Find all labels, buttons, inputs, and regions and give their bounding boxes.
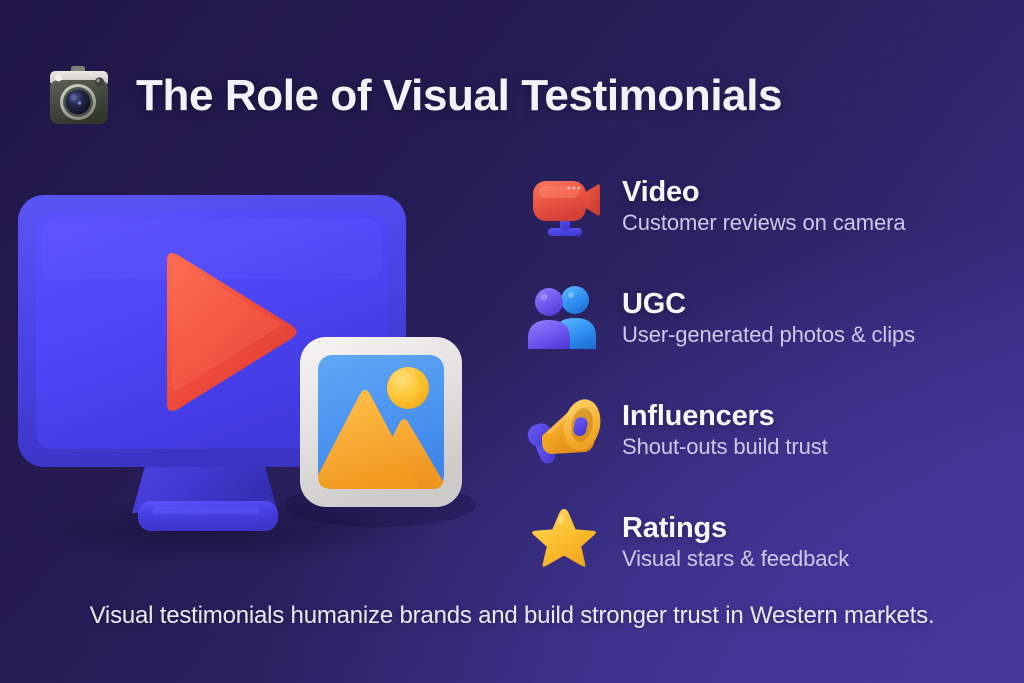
feature-text: Ratings Visual stars & feedback [622,512,849,573]
feature-item-ugc[interactable]: UGC User-generated photos & clips [524,272,994,364]
video-camera-icon [524,166,604,246]
feature-subtitle: Visual stars & feedback [622,546,849,572]
title-row: The Role of Visual Testimonials [44,61,782,131]
feature-title: UGC [622,288,915,320]
feature-subtitle: Customer reviews on camera [622,210,906,236]
megaphone-icon [524,390,604,470]
photo-sun [387,367,429,409]
feature-title: Video [622,176,906,208]
feature-subtitle: Shout-outs build trust [622,434,828,460]
feature-title: Influencers [622,400,828,432]
feature-text: UGC User-generated photos & clips [622,288,915,349]
feature-text: Video Customer reviews on camera [622,176,906,237]
feature-item-influencers[interactable]: Influencers Shout-outs build trust [524,384,994,476]
feature-subtitle: User-generated photos & clips [622,322,915,348]
illustration-monitor-photo [0,165,500,585]
slide-canvas: The Role of Visual Testimonials [0,0,1024,683]
star-icon [524,502,604,582]
page-title: The Role of Visual Testimonials [136,71,782,121]
camera-icon [44,61,114,131]
feature-item-ratings[interactable]: Ratings Visual stars & feedback [524,496,994,588]
feature-item-video[interactable]: Video Customer reviews on camera [524,160,994,252]
caption-text: Visual testimonials humanize brands and … [0,602,1024,630]
feature-title: Ratings [622,512,849,544]
monitor-stand-base [138,501,278,531]
feature-text: Influencers Shout-outs build trust [622,400,828,461]
feature-list: Video Customer reviews on camera [524,160,994,588]
people-group-icon [524,278,604,358]
